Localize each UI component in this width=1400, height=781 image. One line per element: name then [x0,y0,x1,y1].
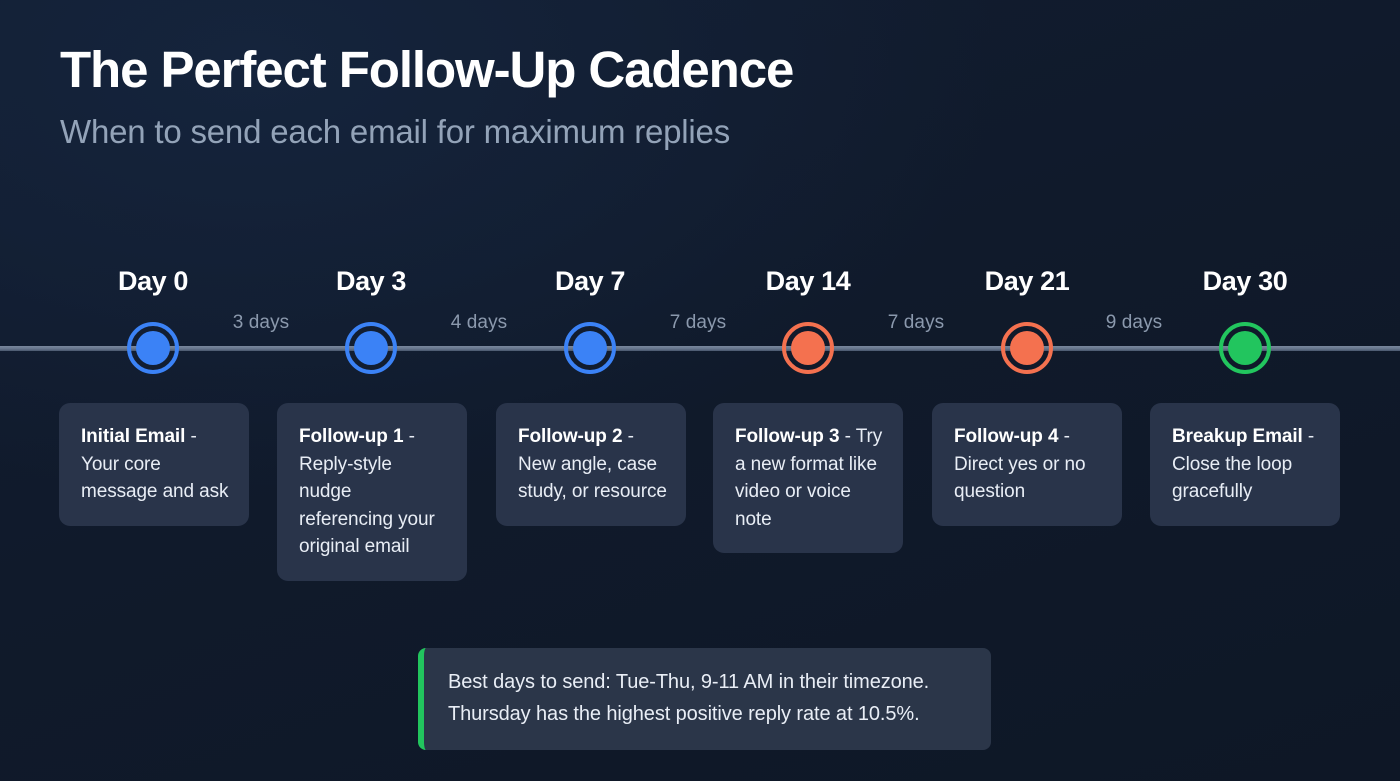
step-card-body: New angle, case study, or resource [518,454,667,503]
step-card[interactable]: Follow-up 3 - Try a new format like vide… [713,403,903,553]
step-card-title: Follow-up 1 [299,426,403,447]
step-card-separator: - [185,426,196,447]
step-card-title: Follow-up 2 [518,426,622,447]
step-card-separator: - [622,426,633,447]
step-card[interactable]: Follow-up 4 - Direct yes or no question [932,403,1122,526]
step-card-separator: - [1058,426,1069,447]
step-card-body: Reply-style nudge referencing your origi… [299,454,435,558]
step-card-body: Your core message and ask [81,454,228,503]
step-card-title: Follow-up 3 [735,426,839,447]
step-card-body: Close the loop gracefully [1172,454,1292,503]
step-card[interactable]: Breakup Email - Close the loop gracefull… [1150,403,1340,526]
step-card[interactable]: Follow-up 1 - Reply-style nudge referenc… [277,403,467,581]
step-card-body: Direct yes or no question [954,454,1085,503]
callout-line-1: Best days to send: Tue-Thu, 9-11 AM in t… [448,666,969,698]
step-card-title: Follow-up 4 [954,426,1058,447]
step-card-separator: - [403,426,414,447]
footer-callout: Best days to send: Tue-Thu, 9-11 AM in t… [418,648,991,750]
step-card-title: Breakup Email [1172,426,1303,447]
step-card-title: Initial Email [81,426,185,447]
step-card-separator: - [1303,426,1314,447]
step-card-separator: - [839,426,850,447]
step-card[interactable]: Initial Email - Your core message and as… [59,403,249,526]
callout-line-2: Thursday has the highest positive reply … [448,698,969,730]
step-card[interactable]: Follow-up 2 - New angle, case study, or … [496,403,686,526]
